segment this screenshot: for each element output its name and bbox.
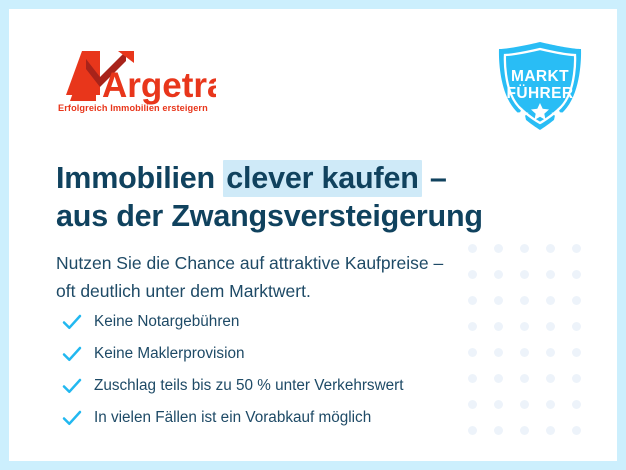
headline-text-before: Immobilien (56, 161, 223, 195)
check-icon (61, 311, 83, 333)
dot (468, 426, 477, 435)
headline-line-1: Immobilien clever kaufen – (56, 159, 483, 197)
list-item-label: Zuschlag teils bis zu 50 % unter Verkehr… (94, 376, 403, 396)
dot (546, 374, 555, 383)
list-item: In vielen Fällen ist ein Vorabkauf mögli… (61, 402, 403, 434)
markt-fuehrer-badge: MARKT FÜHRER (491, 39, 589, 135)
dot (494, 296, 503, 305)
promo-banner: Argetra Erfolgreich Immobilien ersteiger… (0, 0, 626, 470)
dot (468, 270, 477, 279)
check-icon (61, 375, 83, 397)
dot (546, 426, 555, 435)
dot (546, 296, 555, 305)
dot (494, 244, 503, 253)
badge-line1: MARKT (511, 68, 569, 85)
dot (494, 348, 503, 357)
subheading: Nutzen Sie die Chance auf attraktive Kau… (56, 249, 443, 305)
dot (520, 426, 529, 435)
dot (520, 400, 529, 409)
badge-line2: FÜHRER (507, 85, 574, 102)
check-icon (61, 343, 83, 365)
headline-line-2: aus der Zwangsversteigerung (56, 197, 483, 235)
dot (572, 426, 581, 435)
dot (572, 322, 581, 331)
dot (546, 348, 555, 357)
list-item-label: Keine Notargebühren (94, 312, 239, 332)
dot (468, 322, 477, 331)
dot (468, 348, 477, 357)
dot (468, 244, 477, 253)
subheading-line-2: oft deutlich unter dem Marktwert. (56, 277, 443, 305)
dot (520, 270, 529, 279)
dot (520, 244, 529, 253)
argetra-logo: Argetra Erfolgreich Immobilien ersteiger… (56, 45, 216, 117)
dot (546, 400, 555, 409)
dot (494, 374, 503, 383)
dot (572, 400, 581, 409)
subheading-line-1: Nutzen Sie die Chance auf attraktive Kau… (56, 249, 443, 277)
list-item: Zuschlag teils bis zu 50 % unter Verkehr… (61, 370, 403, 402)
dot (520, 348, 529, 357)
list-item-label: In vielen Fällen ist ein Vorabkauf mögli… (94, 408, 371, 428)
dot (468, 296, 477, 305)
dot (546, 270, 555, 279)
banner-card: Argetra Erfolgreich Immobilien ersteiger… (9, 9, 617, 461)
dot (468, 374, 477, 383)
dot (494, 322, 503, 331)
dot (494, 270, 503, 279)
headline-highlight: clever kaufen (223, 160, 421, 197)
dot (572, 374, 581, 383)
headline-text-after: – (422, 161, 447, 195)
dot (494, 426, 503, 435)
logo-wordmark: Argetra (102, 66, 216, 105)
dot (546, 244, 555, 253)
dot (572, 348, 581, 357)
list-item-label: Keine Maklerprovision (94, 344, 245, 364)
dot (546, 322, 555, 331)
dot (520, 322, 529, 331)
check-icon (61, 407, 83, 429)
benefits-checklist: Keine Notargebühren Keine Maklerprovisio… (61, 306, 403, 434)
dot (572, 244, 581, 253)
headline: Immobilien clever kaufen – aus der Zwang… (56, 159, 483, 235)
dot (572, 296, 581, 305)
dot-grid-decoration (459, 235, 589, 443)
dot (572, 270, 581, 279)
dot (520, 374, 529, 383)
logo-tagline: Erfolgreich Immobilien ersteigern (58, 103, 208, 113)
list-item: Keine Notargebühren (61, 306, 403, 338)
dot (468, 400, 477, 409)
dot (494, 400, 503, 409)
list-item: Keine Maklerprovision (61, 338, 403, 370)
dot (520, 296, 529, 305)
